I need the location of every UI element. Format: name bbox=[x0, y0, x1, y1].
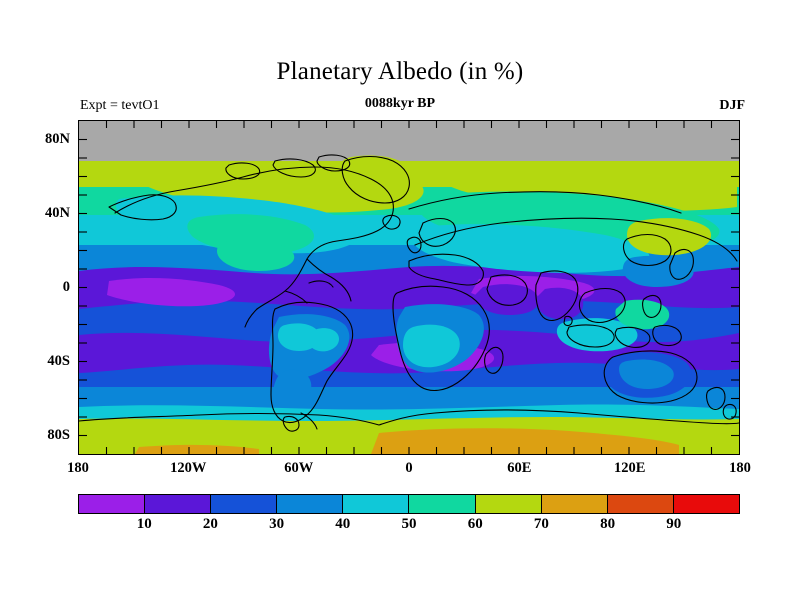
y-tick-label-40n: 40N bbox=[8, 205, 70, 222]
colorbar-band-60-70 bbox=[475, 495, 541, 513]
y-tick-label-80n: 80N bbox=[8, 131, 70, 148]
x-tick-label-120w: 120W bbox=[153, 460, 223, 477]
colorbar-tick-label-80: 80 bbox=[578, 516, 638, 533]
experiment-label: Expt = tevtO1 bbox=[80, 98, 159, 114]
colorbar-band-0-10 bbox=[79, 495, 144, 513]
season-label: DJF bbox=[719, 98, 745, 114]
x-tick-label-120e: 120E bbox=[595, 460, 665, 477]
colorbar-band-70-80 bbox=[541, 495, 607, 513]
page-title: Planetary Albedo (in %) bbox=[0, 58, 800, 86]
colorbar-band-10-20 bbox=[144, 495, 210, 513]
x-tick-label-60e: 60E bbox=[484, 460, 554, 477]
y-tick-label-80s: 80S bbox=[8, 427, 70, 444]
colorbar-band-30-40 bbox=[276, 495, 342, 513]
colorbar-band-50-60 bbox=[408, 495, 474, 513]
colorbar-tick-label-70: 70 bbox=[511, 516, 571, 533]
colorbar-tick-label-40: 40 bbox=[313, 516, 373, 533]
colorbar-band-40-50 bbox=[342, 495, 408, 513]
map-plot-area bbox=[78, 120, 740, 455]
colorbar-tick-label-30: 30 bbox=[247, 516, 307, 533]
y-tick-label-40s: 40S bbox=[8, 353, 70, 370]
x-tick-label-0: 0 bbox=[374, 460, 444, 477]
colorbar-band-20-30 bbox=[210, 495, 276, 513]
colorbar-tick-label-90: 90 bbox=[644, 516, 704, 533]
colorbar-band-80-90 bbox=[607, 495, 673, 513]
x-tick-label-60w: 60W bbox=[264, 460, 334, 477]
colorbar-tick-label-50: 50 bbox=[379, 516, 439, 533]
x-tick-label-180w: 180 bbox=[43, 460, 113, 477]
colorbar-tick-label-10: 10 bbox=[114, 516, 174, 533]
albedo-map bbox=[79, 121, 739, 454]
colorbar-tick-label-20: 20 bbox=[180, 516, 240, 533]
colorbar[interactable] bbox=[78, 494, 740, 514]
y-tick-label-0: 0 bbox=[8, 279, 70, 296]
x-tick-label-180e: 180 bbox=[705, 460, 775, 477]
albedo-figure: Planetary Albedo (in %) 0088kyr BP Expt … bbox=[0, 0, 800, 600]
colorbar-tick-label-60: 60 bbox=[445, 516, 505, 533]
colorbar-band-90-100 bbox=[673, 495, 739, 513]
